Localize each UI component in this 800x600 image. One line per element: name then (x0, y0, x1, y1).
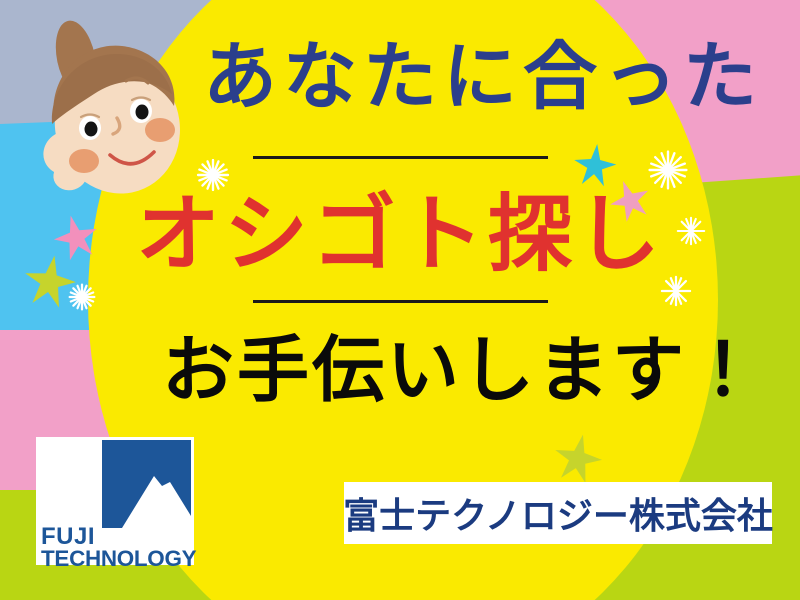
headline-line-2: オシゴト探し (136, 192, 664, 276)
divider-bottom (253, 300, 548, 303)
sparkle-white-2-icon (68, 283, 96, 311)
recruitment-banner: あなたに合った オシゴト探し お手伝いします！ FUJI TECHNOLOGY … (0, 0, 800, 600)
company-name-plate: 富士テクノロジー株式会社 (344, 482, 772, 544)
logo-wordmark: FUJI TECHNOLOGY (41, 525, 193, 569)
fuji-technology-logo: FUJI TECHNOLOGY (36, 437, 194, 565)
mount-fuji-mark-icon (102, 440, 191, 528)
mountain-silhouette-icon (102, 468, 191, 528)
company-name: 富士テクノロジー株式会社 (343, 487, 773, 539)
logo-text-fuji: FUJI (41, 525, 193, 548)
headline-block: あなたに合った オシゴト探し お手伝いします！ (148, 34, 788, 404)
headline-line-3: お手伝いします！ (162, 334, 762, 406)
headline-line-1: あなたに合った (203, 40, 763, 114)
logo-text-technology: TECHNOLOGY (41, 548, 196, 569)
divider-top (253, 156, 548, 159)
